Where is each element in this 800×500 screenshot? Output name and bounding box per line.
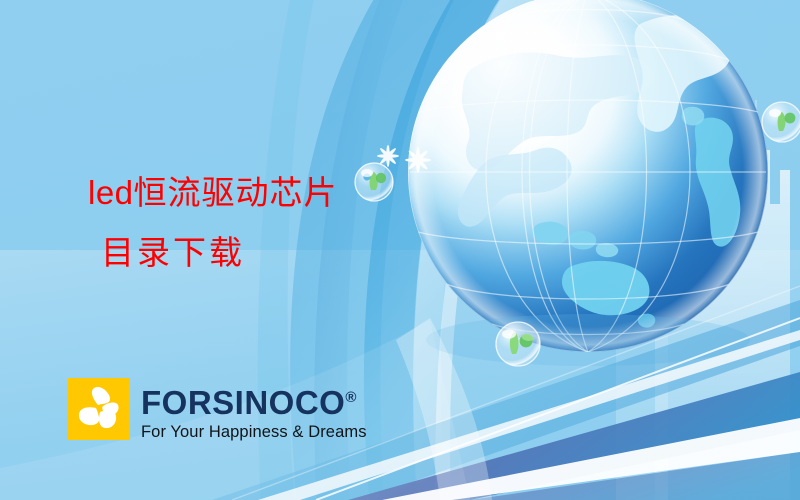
registered-trademark-icon: ® bbox=[345, 389, 356, 406]
forsinoco-logo[interactable]: FORSINOCO® For Your Happiness & Dreams bbox=[68, 378, 367, 442]
headline-latin: led bbox=[88, 174, 134, 211]
logo-wordmark: FORSINOCO® bbox=[141, 381, 367, 419]
headline-text: led恒流驱动芯片 目录下载 bbox=[88, 163, 338, 284]
logo-text-group: FORSINOCO® For Your Happiness & Dreams bbox=[141, 378, 367, 442]
headline-chinese: 恒流驱动芯片 bbox=[134, 176, 338, 212]
headline-line-2: 目录下载 bbox=[88, 224, 338, 284]
logo-wordmark-text: FORSINOCO bbox=[141, 384, 345, 421]
forsinoco-pinwheel-mark bbox=[68, 378, 130, 440]
banner-canvas: led恒流驱动芯片 目录下载 FORSINOCO® For bbox=[0, 0, 800, 500]
logo-tagline: For Your Happiness & Dreams bbox=[141, 422, 367, 442]
headline-line-1: led恒流驱动芯片 bbox=[88, 163, 338, 224]
